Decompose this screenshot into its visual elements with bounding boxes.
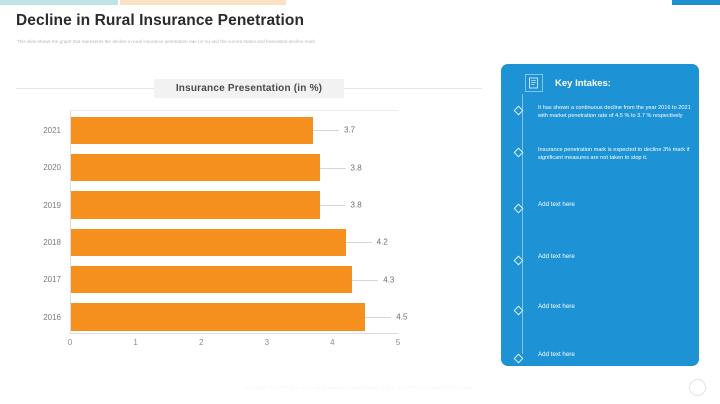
bar[interactable] (71, 266, 352, 293)
key-intakes-title: Key Intakes: (555, 78, 611, 89)
slide-canvas: Decline in Rural Insurance Penetration T… (0, 0, 720, 404)
key-intake-item[interactable]: Add text here (515, 352, 695, 362)
key-intake-item[interactable]: Add text here (515, 304, 695, 314)
x-tick-label: 0 (68, 338, 72, 347)
timeline-node-icon (514, 148, 524, 158)
chart-title-row: Insurance Presentation (in %) (16, 78, 482, 98)
bar-value-label: 3.8 (351, 163, 362, 172)
chart-title-rule-left (16, 88, 154, 89)
key-intake-text: It has shown a continuous decline from t… (538, 104, 695, 121)
key-intake-item[interactable]: Insurance penetration mark is expected t… (515, 146, 695, 163)
bar-leader-line (352, 280, 378, 281)
key-intake-item[interactable]: It has shown a continuous decline from t… (515, 104, 695, 121)
bar-category-label: 2017 (43, 275, 61, 284)
timeline-node-icon (514, 204, 524, 214)
bar[interactable] (71, 303, 365, 330)
page-subtitle: This slide shows the graph that represen… (17, 38, 487, 45)
x-axis-ticks: 012345 (70, 338, 398, 352)
bar-value-label: 4.2 (377, 238, 388, 247)
x-tick-label: 5 (396, 338, 400, 347)
bar-row[interactable]: 20174.3 (71, 266, 398, 293)
timeline-node-icon (514, 106, 524, 116)
decoration-bar-orange (120, 0, 286, 5)
key-intakes-panel: Key Intakes: It has shown a continuous d… (501, 64, 699, 366)
bar-leader-line (365, 317, 391, 318)
bar[interactable] (71, 154, 320, 181)
bar-row[interactable]: 20184.2 (71, 229, 398, 256)
x-tick-label: 1 (133, 338, 137, 347)
timeline-node-icon (514, 306, 524, 316)
chart-title-rule-right (344, 88, 482, 89)
bar-category-label: 2018 (43, 238, 61, 247)
key-intake-item[interactable]: Add text here (515, 254, 695, 264)
bar-leader-line (346, 242, 372, 243)
bar-value-label: 4.3 (383, 275, 394, 284)
bar-row[interactable]: 20203.8 (71, 154, 398, 181)
bar-category-label: 2019 (43, 201, 61, 210)
bar-value-label: 3.7 (344, 126, 355, 135)
bar-category-label: 2016 (43, 313, 61, 322)
bar-chart[interactable]: 20213.720203.820193.820184.220174.320164… (22, 110, 474, 360)
bar-category-label: 2020 (43, 163, 61, 172)
key-intakes-header: Key Intakes: (525, 68, 691, 98)
bar-value-label: 3.8 (351, 201, 362, 210)
key-intake-text: Insurance penetration mark is expected t… (538, 146, 695, 163)
bar-row[interactable]: 20193.8 (71, 191, 398, 218)
page-title: Decline in Rural Insurance Penetration (16, 12, 304, 30)
key-intake-item[interactable]: Add text here (515, 202, 695, 212)
decoration-circle (689, 379, 706, 396)
chart-title: Insurance Presentation (in %) (154, 79, 344, 98)
bar-row[interactable]: 20213.7 (71, 117, 398, 144)
timeline-node-icon (514, 354, 524, 364)
key-intake-text: Add text here (538, 253, 575, 261)
bar-category-label: 2021 (43, 126, 61, 135)
bar-leader-line (320, 205, 346, 206)
x-tick-label: 3 (265, 338, 269, 347)
decoration-bar-blue (672, 0, 720, 5)
bar[interactable] (71, 191, 320, 218)
bar[interactable] (71, 117, 313, 144)
chart-card: Insurance Presentation (in %) 20213.7202… (8, 62, 490, 367)
x-tick-label: 2 (199, 338, 203, 347)
footer-note: This graph/chart is linked to excel, and… (0, 385, 720, 390)
key-intake-text: Add text here (538, 351, 575, 359)
timeline-node-icon (514, 256, 524, 266)
bar[interactable] (71, 229, 346, 256)
bar-row[interactable]: 20164.5 (71, 303, 398, 330)
plot-area: 20213.720203.820193.820184.220174.320164… (70, 110, 398, 334)
document-icon (525, 74, 543, 92)
key-intakes-timeline (522, 94, 523, 354)
bar-leader-line (320, 168, 346, 169)
bar-leader-line (313, 130, 339, 131)
key-intake-text: Add text here (538, 303, 575, 311)
decoration-bar-teal (0, 0, 118, 5)
bar-value-label: 4.5 (396, 313, 407, 322)
key-intake-text: Add text here (538, 201, 575, 209)
x-tick-label: 4 (330, 338, 334, 347)
